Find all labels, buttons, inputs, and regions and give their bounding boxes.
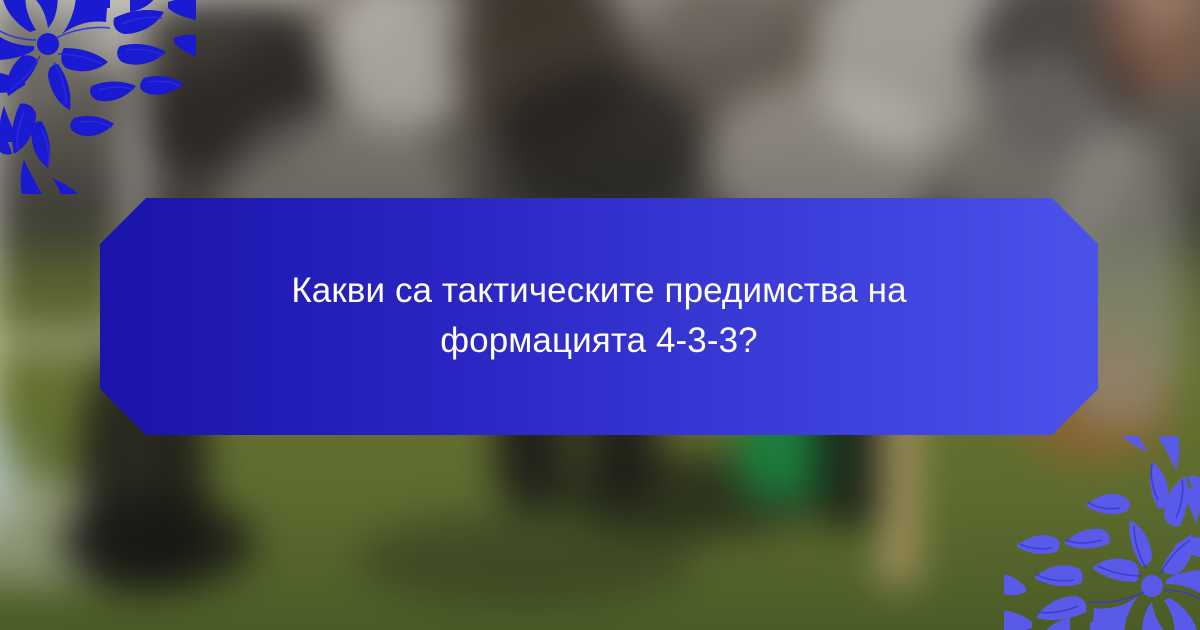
pitch-shadow bbox=[356, 511, 695, 606]
question-banner: Какви са тактическите предимства на форм… bbox=[100, 198, 1098, 435]
question-card: Какви са тактическите предимства на форм… bbox=[0, 0, 1200, 630]
player-silhouette bbox=[59, 495, 255, 590]
question-text: Какви са тактическите предимства на форм… bbox=[219, 266, 979, 367]
